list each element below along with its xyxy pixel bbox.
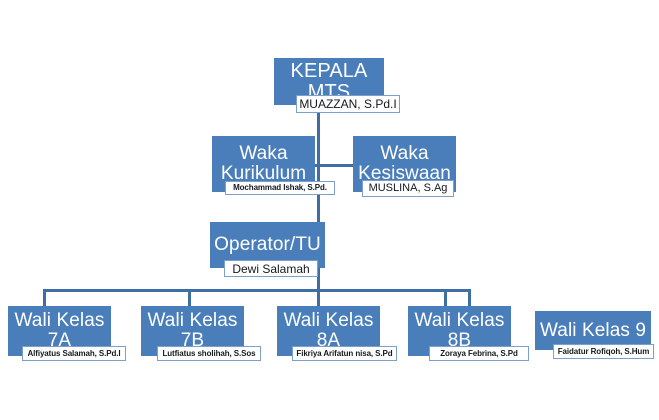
connector-drop-wali-7a <box>43 289 46 306</box>
nameplate-wali-kelas-7a-text: Alfiyatus Salamah, S.Pd.I <box>27 350 120 358</box>
nameplate-wali-kelas-8a-text: Fikriya Arifatun nisa, S.Pd <box>296 350 392 358</box>
node-wali-kelas-7a-role: Wali Kelas 7A <box>8 311 111 351</box>
nameplate-wali-kelas-9-text: Faidatur Rofiqoh, S.Hum <box>558 348 649 356</box>
node-wali-kelas-8a-role: Wali Kelas 8A <box>277 311 380 351</box>
nameplate-wali-kelas-8b[interactable]: Zoraya Febrina, S.Pd <box>429 346 529 361</box>
node-waka-kesiswaan-role: Waka Kesiswaan <box>353 144 456 184</box>
org-chart: KEPALA MTS MUAZZAN, S.Pd.I Waka Kurikulu… <box>0 0 659 420</box>
nameplate-kepala-mts[interactable]: MUAZZAN, S.Pd.I <box>296 95 400 113</box>
nameplate-operator-tu[interactable]: Dewi Salamah <box>224 260 318 277</box>
nameplate-wali-kelas-9[interactable]: Faidatur Rofiqoh, S.Hum <box>553 344 654 359</box>
nameplate-wali-kelas-7a[interactable]: Alfiyatus Salamah, S.Pd.I <box>22 346 126 361</box>
node-wali-kelas-9-role: Wali Kelas 9 <box>535 321 651 341</box>
nameplate-operator-tu-text: Dewi Salamah <box>232 263 309 275</box>
nameplate-kepala-mts-text: MUAZZAN, S.Pd.I <box>299 98 396 110</box>
connector-drop-wali-8a <box>317 289 320 306</box>
nameplate-wali-kelas-7b[interactable]: Lutfiatus sholihah, S.Sos <box>157 346 261 361</box>
nameplate-wali-kelas-8b-text: Zoraya Febrina, S.Pd <box>440 350 518 358</box>
nameplate-waka-kesiswaan[interactable]: MUSLINA, S.Ag <box>362 180 454 197</box>
nameplate-waka-kesiswaan-text: MUSLINA, S.Ag <box>369 183 448 194</box>
node-wali-kelas-8b-role: Wali Kelas 8B <box>408 311 511 351</box>
nameplate-waka-kurikulum[interactable]: Mochammad Ishak, S.Pd. <box>225 181 335 195</box>
nameplate-waka-kurikulum-text: Mochammad Ishak, S.Pd. <box>233 184 327 192</box>
nameplate-wali-kelas-7b-text: Lutfiatus sholihah, S.Sos <box>162 350 255 358</box>
node-operator-tu-role: Operator/TU <box>210 235 325 255</box>
connector-drop-wali-7b <box>188 289 191 306</box>
connector-drop-wali-8b <box>444 289 447 306</box>
nameplate-wali-kelas-8a[interactable]: Fikriya Arifatun nisa, S.Pd <box>292 346 397 361</box>
node-waka-kurikulum-role: Waka Kurikulum <box>212 144 315 184</box>
connector-wali-horizontal <box>43 289 471 292</box>
node-wali-kelas-7b-role: Wali Kelas 7B <box>141 311 244 351</box>
